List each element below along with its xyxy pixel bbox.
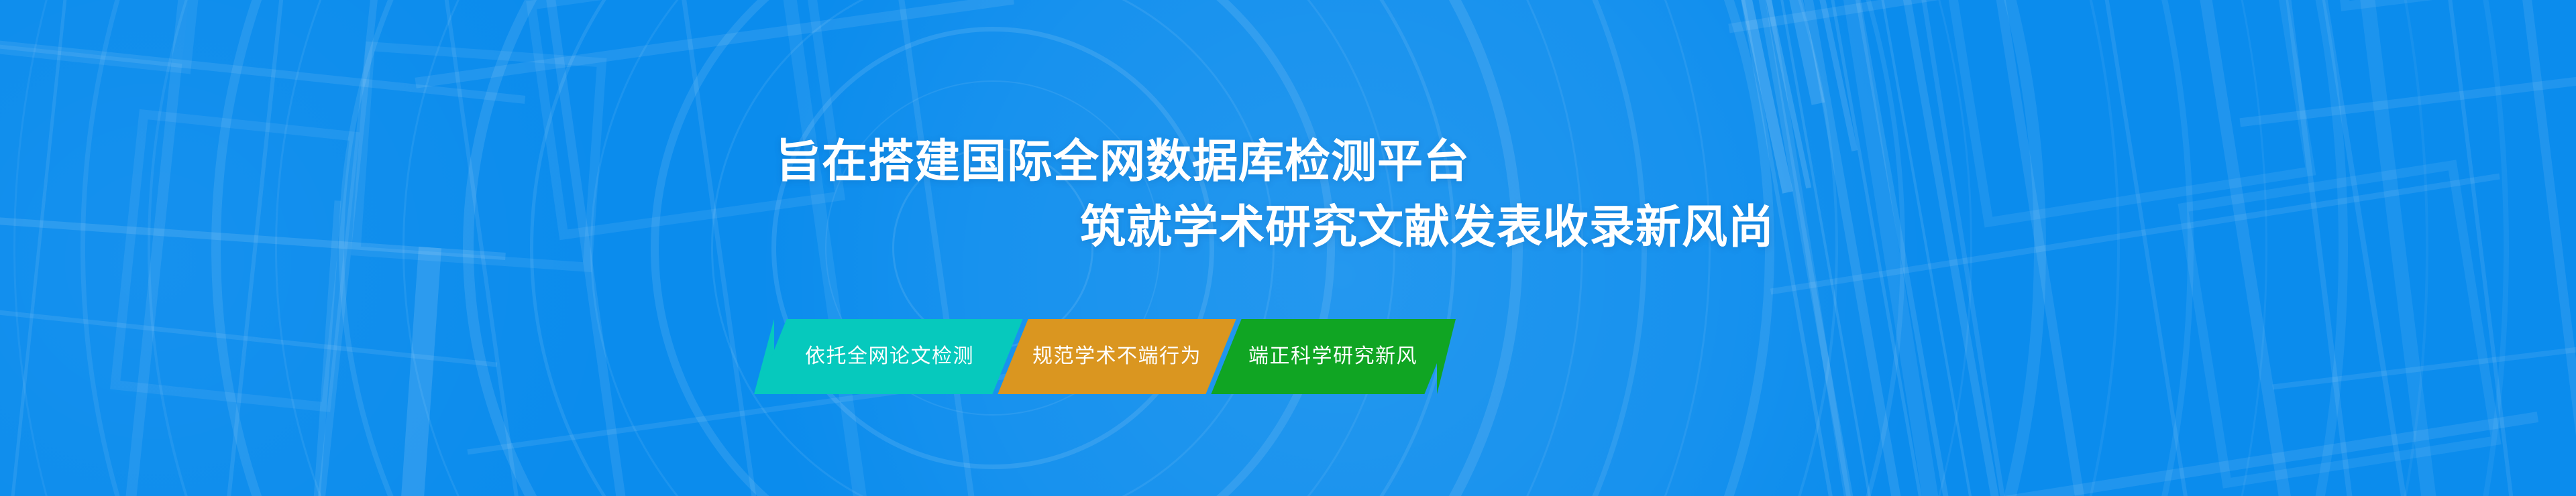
radial-glow-secondary — [0, 0, 657, 496]
tilted-grid-right — [1690, 0, 2566, 496]
tilted-grid-far-right — [2200, 0, 2576, 496]
radial-glow — [704, 0, 1979, 496]
headline-line-2: 筑就学术研究文献发表收录新风尚 — [1080, 204, 1774, 251]
feature-tag-3-label: 端正科学研究新风 — [1248, 347, 1417, 367]
tilted-grid-left — [0, 0, 547, 496]
feature-tag-2[interactable]: 规范学术不端行为 — [998, 319, 1236, 394]
headline-line-1: 旨在搭建国际全网数据库检测平台 — [775, 138, 1470, 185]
feature-tag-2-label: 规范学术不端行为 — [1032, 347, 1201, 367]
banner-background-decoration — [0, 0, 2576, 496]
feature-tag-1-label: 依托全网论文检测 — [805, 347, 974, 367]
feature-tag-1[interactable]: 依托全网论文检测 — [756, 319, 1022, 394]
promo-banner: 旨在搭建国际全网数据库检测平台 筑就学术研究文献发表收录新风尚 依托全网论文检测… — [0, 0, 2576, 496]
feature-tag-strip: 依托全网论文检测 规范学术不端行为 端正科学研究新风 — [771, 319, 1440, 394]
feature-tag-3[interactable]: 端正科学研究新风 — [1211, 319, 1454, 394]
tilted-grid-lower-left — [0, 174, 508, 496]
vertical-stripe-cluster — [1717, 0, 2135, 496]
highlight-stripe-cluster — [1717, 0, 1973, 195]
tilted-grid-center — [376, 0, 1099, 496]
